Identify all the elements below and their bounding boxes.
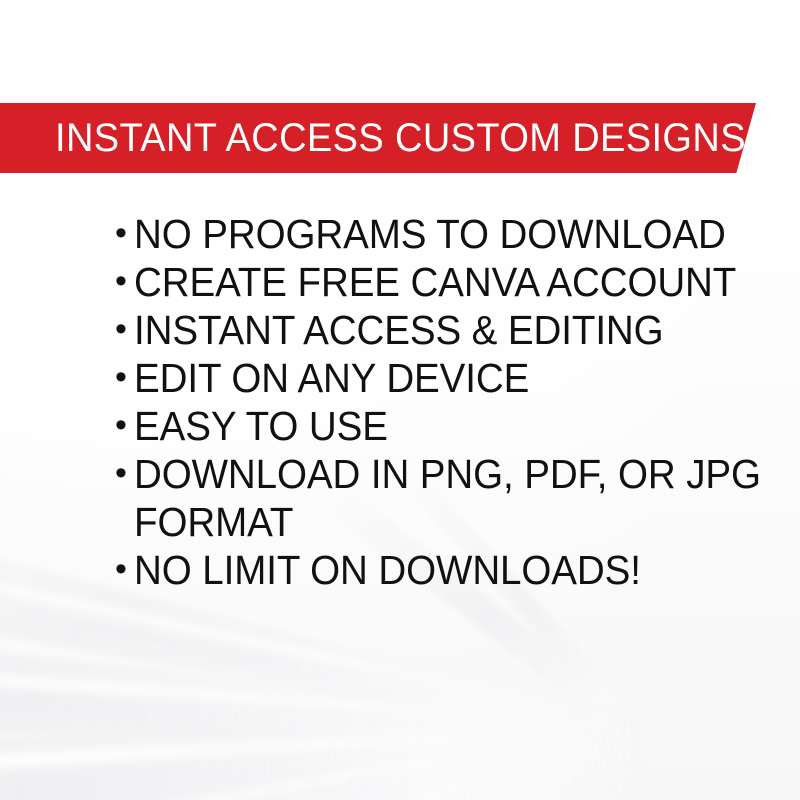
bullet-icon: •: [112, 404, 134, 446]
list-item: • EASY TO USE: [112, 404, 732, 452]
list-item: • NO PROGRAMS TO DOWNLOAD: [112, 212, 732, 260]
banner-title: INSTANT ACCESS CUSTOM DESIGNS: [55, 118, 746, 158]
list-item: • CREATE FREE CANVA ACCOUNT: [112, 260, 732, 308]
bullet-icon: •: [112, 356, 134, 398]
feature-list: • NO PROGRAMS TO DOWNLOAD • CREATE FREE …: [112, 212, 732, 596]
list-item-label: FORMAT: [134, 500, 293, 544]
list-item-label: EDIT ON ANY DEVICE: [134, 356, 529, 400]
list-item: • INSTANT ACCESS & EDITING: [112, 308, 732, 356]
list-item-label: INSTANT ACCESS & EDITING: [134, 308, 664, 352]
bullet-icon: •: [112, 452, 134, 494]
list-item: • NO LIMIT ON DOWNLOADS!: [112, 548, 732, 596]
list-item-label: NO LIMIT ON DOWNLOADS!: [134, 548, 641, 592]
list-item-continuation: FORMAT: [112, 500, 732, 548]
bullet-icon: •: [112, 548, 134, 590]
bullet-icon: •: [112, 212, 134, 254]
bullet-icon: •: [112, 260, 134, 302]
bullet-icon: •: [112, 308, 134, 350]
list-item: • EDIT ON ANY DEVICE: [112, 356, 732, 404]
list-item-label: CREATE FREE CANVA ACCOUNT: [134, 260, 736, 304]
list-item-label: NO PROGRAMS TO DOWNLOAD: [134, 212, 726, 256]
list-item-label: EASY TO USE: [134, 404, 388, 448]
promo-graphic: INSTANT ACCESS CUSTOM DESIGNS • NO PROGR…: [0, 0, 800, 800]
list-item: • DOWNLOAD IN PNG, PDF, OR JPG: [112, 452, 732, 500]
header-banner: INSTANT ACCESS CUSTOM DESIGNS: [0, 103, 756, 173]
list-item-label: DOWNLOAD IN PNG, PDF, OR JPG: [134, 452, 761, 496]
